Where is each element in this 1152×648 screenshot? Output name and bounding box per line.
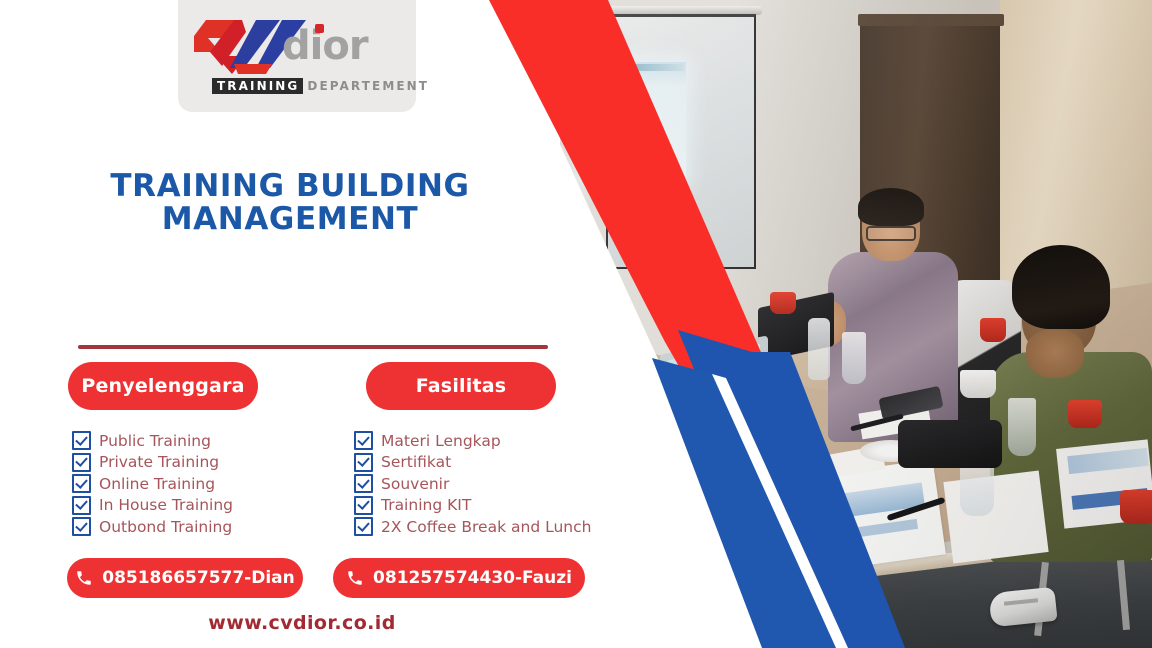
laptop-silver-screen [668,344,760,440]
logo-dot-accent [315,24,324,33]
fasilitas-list: Materi Lengkap Sertifikat Souvenir Train… [354,430,591,538]
phone-icon [346,569,364,587]
participant-one-glasses [866,226,916,241]
contact-label: 081257574430-Fauzi [373,568,572,588]
logo-wordmark: dior [282,26,368,66]
page-title-line-one: TRAINING BUILDING [0,170,580,203]
contact-button-dian[interactable]: 085186657577-Dian [67,558,303,598]
contact-label: 085186657577-Dian [102,568,295,588]
list-item: Sertifikat [354,452,591,474]
red-cup-one [770,292,796,314]
checkbox-checked-icon [72,474,91,493]
list-item-label: Outbond Training [99,518,232,536]
website-url[interactable]: www.cvdior.co.id [0,612,604,634]
logo-subtitle-training: TRAINING [212,78,303,94]
checkbox-checked-icon [72,517,91,536]
red-cup-four [1120,490,1152,524]
water-bottle [808,318,830,380]
checkbox-checked-icon [354,453,373,472]
section-heading-penyelenggara[interactable]: Penyelenggara [68,362,258,410]
left-content-panel: dior TRAINING DEPARTEMENT TRAINING BUILD… [0,0,600,648]
promotional-flyer: dior TRAINING DEPARTEMENT TRAINING BUILD… [0,0,1152,648]
door-header [858,14,1004,26]
list-item-label: Online Training [99,475,215,493]
red-cup-three [1068,400,1102,428]
list-item-label: Sertifikat [381,453,451,471]
logo-subtitle: TRAINING DEPARTEMENT [212,78,429,94]
list-item: Online Training [72,473,233,495]
black-bag [898,420,1002,468]
section-divider-rule [78,345,548,349]
checkbox-checked-icon [72,431,91,450]
list-item-label: Public Training [99,432,211,450]
contact-button-fauzi[interactable]: 081257574430-Fauzi [333,558,585,598]
list-item: Outbond Training [72,516,233,538]
checkbox-checked-icon [72,496,91,515]
drinking-glass-two [1008,398,1036,456]
checkbox-checked-icon [354,517,373,536]
list-item: Public Training [72,430,233,452]
list-item-label: Souvenir [381,475,449,493]
coffee-mug [960,370,996,398]
list-item-label: In House Training [99,496,233,514]
list-item-label: Private Training [99,453,219,471]
training-photo [560,0,1152,648]
penyelenggara-list: Public Training Private Training Online … [72,430,233,538]
phone-icon [75,569,93,587]
participant-one-hair [858,188,924,226]
sneaker [988,587,1057,628]
list-item-label: Materi Lengkap [381,432,501,450]
list-item: Materi Lengkap [354,430,591,452]
participant-two-hands [1026,330,1084,378]
drinking-glass-one [842,332,866,384]
page-title: TRAINING BUILDING MANAGEMENT [0,170,580,236]
photo-canvas [560,0,1152,648]
section-heading-fasilitas[interactable]: Fasilitas [366,362,556,410]
list-item-label: Training KIT [381,496,471,514]
red-cup-two [980,318,1006,342]
list-item: In House Training [72,495,233,517]
checkbox-checked-icon [354,496,373,515]
list-item: Private Training [72,452,233,474]
list-item-label: 2X Coffee Break and Lunch [381,518,591,536]
company-logo-card: dior TRAINING DEPARTEMENT [178,0,416,112]
page-title-line-two: MANAGEMENT [0,203,580,236]
checkbox-checked-icon [354,431,373,450]
logo-subtitle-departement: DEPARTEMENT [307,79,429,93]
list-item: 2X Coffee Break and Lunch [354,516,591,538]
list-item: Training KIT [354,495,591,517]
checkbox-checked-icon [72,453,91,472]
checkbox-checked-icon [354,474,373,493]
participant-two-hair [1012,245,1110,329]
list-item: Souvenir [354,473,591,495]
